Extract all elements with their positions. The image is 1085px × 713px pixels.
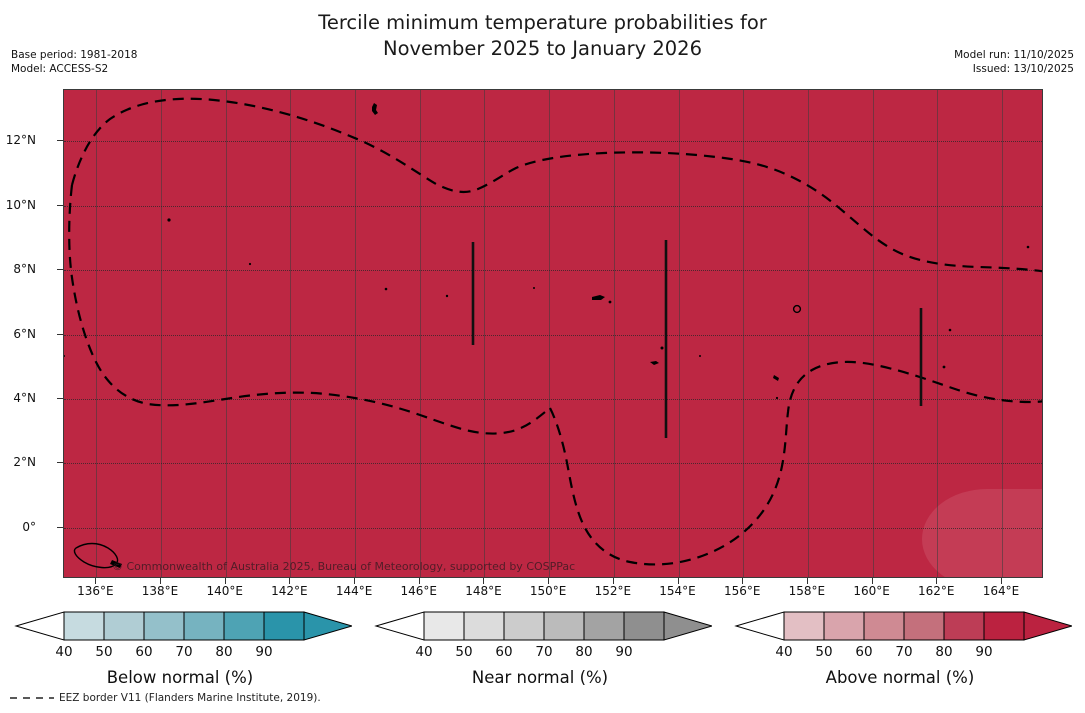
colorbar-swatches-above-normal: [728, 608, 1072, 644]
colorbar-under-arrow: [16, 612, 64, 640]
colorbar-tick-label: 90: [975, 644, 992, 660]
colorbar-tick-labels: 405060708090: [8, 644, 352, 662]
colorbar-under-arrow: [376, 612, 424, 640]
colorbar-tick-label: 90: [255, 644, 272, 660]
eez-border-path: [69, 99, 1043, 565]
x-axis-tick-label: 162°E: [918, 584, 955, 598]
colorbar-title-above-normal: Above normal (%): [728, 668, 1072, 687]
x-axis-tick-label: 138°E: [142, 584, 179, 598]
colorbar-swatches-below-normal: [8, 608, 352, 644]
metadata-right: Model run: 11/10/2025 Issued: 13/10/2025: [954, 48, 1074, 76]
y-axis-tick-mark: [57, 462, 63, 463]
colorbar-tick-label: 40: [415, 644, 432, 660]
x-axis-tick-label: 140°E: [206, 584, 243, 598]
colorbar-above-normal[interactable]: 405060708090Above normal (%): [728, 608, 1072, 708]
x-axis-tick-mark: [613, 578, 614, 584]
y-axis-tick-mark: [57, 527, 63, 528]
map-vector-overlay: [64, 90, 1043, 578]
colorbar-tick-label: 50: [815, 644, 832, 660]
colorbar-near-normal[interactable]: 405060708090Near normal (%): [368, 608, 712, 708]
x-axis-tick-label: 154°E: [659, 584, 696, 598]
x-axis-tick-label: 148°E: [465, 584, 502, 598]
x-axis-tick-mark: [678, 578, 679, 584]
colorbar-cell: [944, 612, 984, 640]
y-axis-tick-label: 10°N: [6, 198, 36, 212]
x-axis-tick-mark: [548, 578, 549, 584]
page-title: Tercile minimum temperature probabilitie…: [0, 10, 1085, 62]
colorbar-cell: [624, 612, 664, 640]
colorbar-tick-label: 60: [135, 644, 152, 660]
x-axis-tick-label: 152°E: [595, 584, 632, 598]
x-axis-tick-label: 146°E: [401, 584, 438, 598]
eez-border-legend: EEZ border V11 (Flanders Marine Institut…: [8, 692, 321, 704]
y-axis-tick-label: 12°N: [6, 133, 36, 147]
x-axis-tick-label: 136°E: [77, 584, 114, 598]
colorbar-tick-labels: 405060708090: [728, 644, 1072, 662]
x-axis-tick-label: 164°E: [983, 584, 1020, 598]
model-run-label: Model run: 11/10/2025: [954, 48, 1074, 62]
colorbar-tick-label: 40: [55, 644, 72, 660]
colorbar-tick-label: 60: [855, 644, 872, 660]
colorbar-cell: [904, 612, 944, 640]
map-copyright-credit: © Commonwealth of Australia 2025, Bureau…: [112, 560, 575, 573]
colorbar-tick-label: 70: [895, 644, 912, 660]
colorbar-over-arrow: [1024, 612, 1072, 640]
x-axis-tick-mark: [807, 578, 808, 584]
colorbar-cell: [424, 612, 464, 640]
eez-border-legend-label: EEZ border V11 (Flanders Marine Institut…: [59, 692, 321, 704]
y-axis-tick-mark: [57, 269, 63, 270]
colorbar-cell: [984, 612, 1024, 640]
y-axis-tick-label: 4°N: [13, 391, 36, 405]
colorbar-cell: [824, 612, 864, 640]
colorbar-cell: [264, 612, 304, 640]
colorbar-swatches-near-normal: [368, 608, 712, 644]
y-axis-tick-mark: [57, 334, 63, 335]
colorbar-over-arrow: [304, 612, 352, 640]
x-axis-tick-mark: [872, 578, 873, 584]
base-period-label: Base period: 1981-2018: [11, 48, 137, 62]
x-axis-tick-label: 142°E: [271, 584, 308, 598]
x-axis-tick-label: 150°E: [530, 584, 567, 598]
x-axis-tick-label: 158°E: [789, 584, 826, 598]
x-axis-tick-mark: [289, 578, 290, 584]
colorbar-tick-label: 70: [175, 644, 192, 660]
colorbar-tick-label: 60: [495, 644, 512, 660]
x-axis-tick-mark: [354, 578, 355, 584]
colorbar-cell: [64, 612, 104, 640]
x-axis-tick-mark: [936, 578, 937, 584]
colorbar-title-below-normal: Below normal (%): [8, 668, 352, 687]
colorbar-tick-labels: 405060708090: [368, 644, 712, 662]
y-axis-tick-mark: [57, 140, 63, 141]
colorbar-cell: [784, 612, 824, 640]
map-island-specks: [64, 103, 1029, 568]
colorbar-cell: [104, 612, 144, 640]
colorbar-tick-label: 80: [575, 644, 592, 660]
y-axis-tick-label: 8°N: [13, 262, 36, 276]
page-title-line-1: Tercile minimum temperature probabilitie…: [0, 10, 1085, 36]
map-plot-area[interactable]: © Commonwealth of Australia 2025, Bureau…: [63, 89, 1043, 578]
y-axis-tick-label: 0°: [22, 520, 36, 534]
colorbar-cell: [544, 612, 584, 640]
colorbar-cell: [584, 612, 624, 640]
colorbar-tick-label: 50: [455, 644, 472, 660]
colorbar-cell: [464, 612, 504, 640]
colorbar-cell: [144, 612, 184, 640]
x-axis-tick-label: 160°E: [853, 584, 890, 598]
colorbar-tick-label: 40: [775, 644, 792, 660]
issued-label: Issued: 13/10/2025: [954, 62, 1074, 76]
colorbar-over-arrow: [664, 612, 712, 640]
map-vertical-segments: [473, 240, 921, 438]
colorbar-title-near-normal: Near normal (%): [368, 668, 712, 687]
metadata-left: Base period: 1981-2018 Model: ACCESS-S2: [11, 48, 137, 76]
x-axis-tick-label: 144°E: [336, 584, 373, 598]
colorbar-tick-label: 50: [95, 644, 112, 660]
colorbar-cell: [224, 612, 264, 640]
colorbar-tick-label: 80: [215, 644, 232, 660]
y-axis-tick-label: 2°N: [13, 455, 36, 469]
colorbar-tick-label: 90: [615, 644, 632, 660]
colorbar-tick-label: 70: [535, 644, 552, 660]
x-axis-tick-mark: [95, 578, 96, 584]
colorbar-cell: [504, 612, 544, 640]
x-axis-tick-mark: [742, 578, 743, 584]
colorbar-under-arrow: [736, 612, 784, 640]
x-axis-tick-mark: [1001, 578, 1002, 584]
x-axis-tick-label: 156°E: [724, 584, 761, 598]
y-axis-tick-label: 6°N: [13, 327, 36, 341]
y-axis-tick-mark: [57, 398, 63, 399]
x-axis-tick-mark: [419, 578, 420, 584]
eez-dash-icon: [8, 693, 56, 703]
model-label: Model: ACCESS-S2: [11, 62, 137, 76]
colorbar-cell: [864, 612, 904, 640]
colorbar-cell: [184, 612, 224, 640]
x-axis-tick-mark: [160, 578, 161, 584]
y-axis-tick-mark: [57, 205, 63, 206]
x-axis-tick-mark: [483, 578, 484, 584]
x-axis-tick-mark: [225, 578, 226, 584]
page-title-line-2: November 2025 to January 2026: [0, 36, 1085, 62]
colorbar-tick-label: 80: [935, 644, 952, 660]
